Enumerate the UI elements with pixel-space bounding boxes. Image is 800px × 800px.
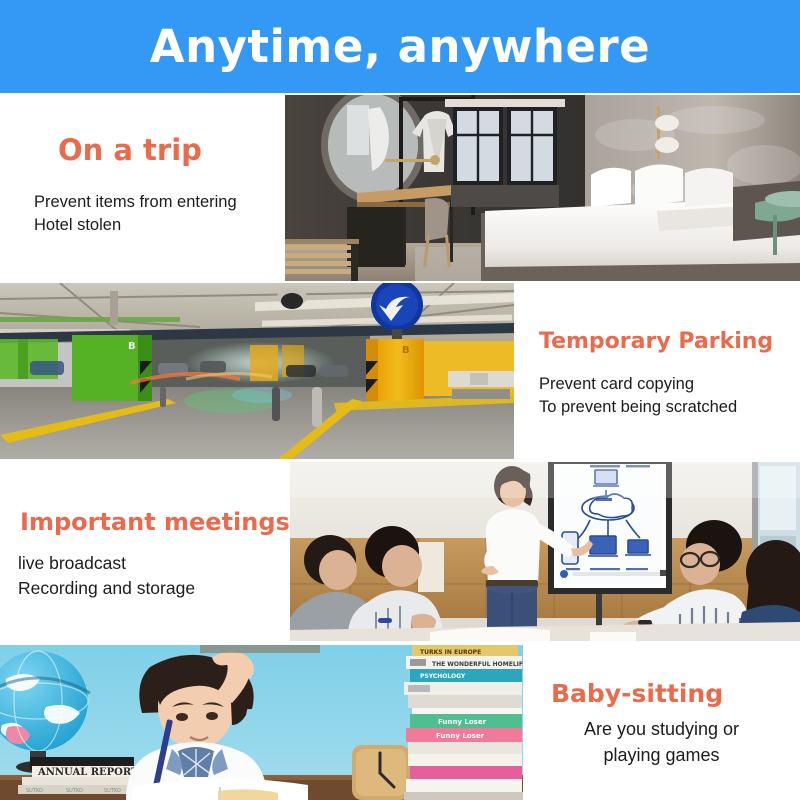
body-line: Hotel stolen: [34, 214, 237, 237]
body-line: To prevent being scratched: [539, 396, 737, 419]
section-on-a-trip-body: Prevent items from entering Hotel stolen: [34, 191, 237, 238]
svg-text:Funny Loser: Funny Loser: [436, 732, 485, 740]
body-line: Recording and storage: [18, 576, 195, 601]
parking-garage-photo: B B: [0, 283, 514, 459]
svg-text:SUTKO: SUTKO: [104, 788, 121, 794]
body-line: Are you studying or: [523, 717, 800, 743]
section-important-meetings-body: live broadcast Recording and storage: [18, 551, 195, 601]
section-temporary-parking-body: Prevent card copying To prevent being sc…: [539, 373, 737, 420]
section-on-a-trip-heading: On a trip: [58, 135, 202, 167]
section-baby-sitting-text: Baby-sitting Are you studying or playing…: [523, 645, 800, 800]
page-title: Anytime, anywhere: [150, 24, 650, 69]
promo-poster: Anytime, anywhere On a trip Prevent item…: [0, 0, 800, 800]
body-line: live broadcast: [18, 551, 195, 576]
body-line: Prevent items from entering: [34, 191, 237, 214]
section-important-meetings-text: Important meetings live broadcast Record…: [0, 462, 290, 641]
section-baby-sitting-body: Are you studying or playing games: [523, 717, 800, 768]
meeting-room-photo: [290, 462, 800, 641]
section-temporary-parking-text: Temporary Parking Prevent card copying T…: [514, 283, 800, 459]
svg-text:SUTKO: SUTKO: [66, 788, 83, 794]
hotel-room-photo: [285, 95, 800, 281]
svg-text:Funny Loser: Funny Loser: [438, 718, 487, 726]
page-banner: Anytime, anywhere: [0, 0, 800, 93]
body-line: Prevent card copying: [539, 373, 737, 396]
section-on-a-trip-text: On a trip Prevent items from entering Ho…: [0, 93, 288, 281]
child-studying-photo: ANNUAL REPORT SUTKOSUTKOSUTKO: [0, 645, 523, 800]
svg-text:PSYCHOLOGY: PSYCHOLOGY: [420, 673, 466, 680]
svg-text:TURKS IN EUROPE: TURKS IN EUROPE: [420, 649, 481, 656]
body-line: playing games: [523, 743, 800, 769]
section-temporary-parking-heading: Temporary Parking: [539, 330, 773, 354]
svg-text:ANNUAL REPORT: ANNUAL REPORT: [37, 767, 139, 778]
section-baby-sitting-heading: Baby-sitting: [551, 680, 723, 708]
section-important-meetings-heading: Important meetings: [20, 509, 290, 535]
svg-text:SUTKO: SUTKO: [26, 788, 43, 794]
svg-text:THE WONDERFUL HOMELIFE: THE WONDERFUL HOMELIFE: [432, 661, 523, 668]
